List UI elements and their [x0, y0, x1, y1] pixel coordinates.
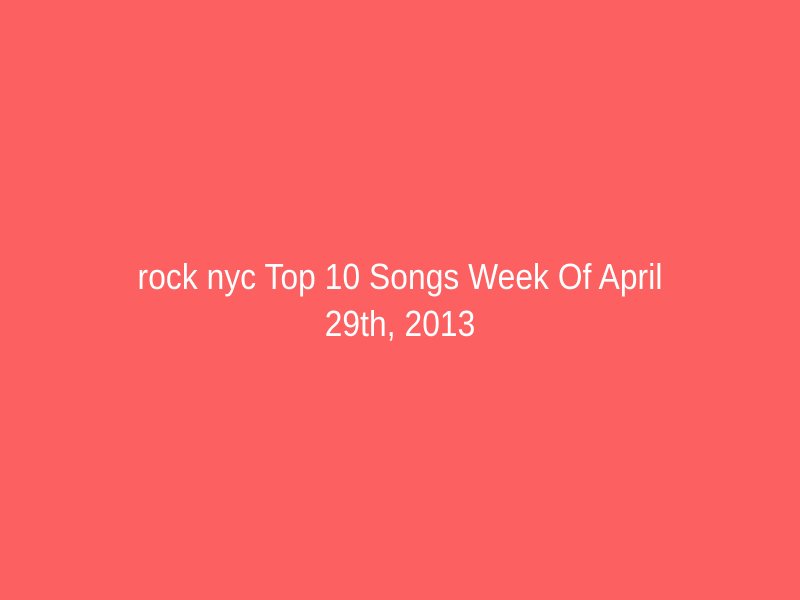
title-block: rock nyc Top 10 Songs Week Of April 29th…: [80, 253, 720, 347]
page-title: rock nyc Top 10 Songs Week Of April 29th…: [125, 253, 674, 347]
placeholder-image-canvas: rock nyc Top 10 Songs Week Of April 29th…: [0, 0, 800, 600]
